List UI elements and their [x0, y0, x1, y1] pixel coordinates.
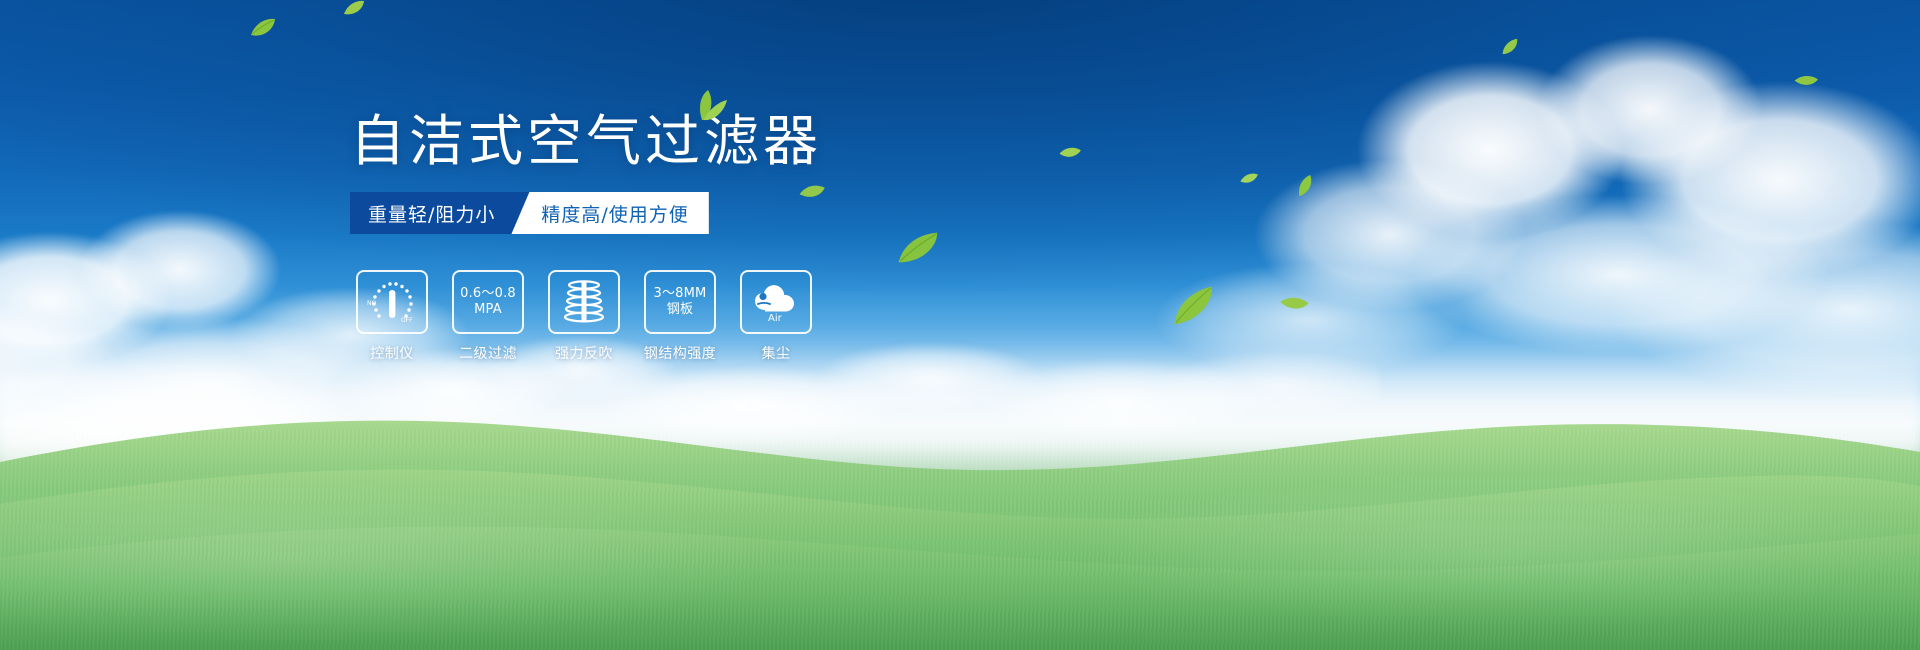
feature-tag-group: 重量轻/阻力小 精度高/使用方便: [350, 192, 709, 234]
title-leaf-icon: [680, 88, 728, 122]
page-title: 自洁式空气过滤器: [350, 110, 822, 172]
feature-item-control-instrument[interactable]: NO OFF 控制仪: [356, 270, 428, 363]
pressure-text-icon: 0.6～0.8MPA: [460, 286, 516, 318]
banner-content: 自洁式空气过滤器 重量轻/阻力小 精度高/使用方便: [0, 0, 1920, 650]
tag-precision-convenience[interactable]: 精度高/使用方便: [511, 192, 708, 234]
coil-spiral-icon: [561, 278, 607, 326]
svg-text:NO: NO: [367, 300, 376, 307]
svg-text:Air: Air: [768, 313, 783, 324]
feature-icon-box: 3～8MM钢板: [644, 270, 716, 334]
feature-icon-box: Air: [740, 270, 812, 334]
air-cloud-icon: Air: [750, 280, 802, 324]
hero-banner: 自洁式空气过滤器 重量轻/阻力小 精度高/使用方便: [0, 0, 1920, 650]
svg-text:OFF: OFF: [401, 317, 413, 324]
feature-label: 控制仪: [370, 343, 414, 363]
feature-icon-box: NO OFF: [356, 270, 428, 334]
feature-item-steel-structure-strength[interactable]: 3～8MM钢板 钢结构强度: [644, 270, 716, 363]
feature-item-strong-backblow[interactable]: 强力反吹: [548, 270, 620, 363]
control-dial-icon: NO OFF: [363, 277, 421, 327]
feature-icon-box: 0.6～0.8MPA: [452, 270, 524, 334]
feature-label: 二级过滤: [459, 343, 517, 363]
feature-label: 集尘: [762, 343, 791, 363]
feature-label: 钢结构强度: [644, 343, 717, 363]
feature-icon-row: NO OFF 控制仪 0.6～0.8MPA 二级过滤: [356, 270, 812, 363]
steel-plate-text-icon: 3～8MM钢板: [654, 286, 707, 318]
feature-item-dust-collection[interactable]: Air 集尘: [740, 270, 812, 363]
tag-weight-resistance[interactable]: 重量轻/阻力小: [350, 192, 529, 234]
feature-label: 强力反吹: [555, 343, 613, 363]
feature-item-secondary-filtration[interactable]: 0.6～0.8MPA 二级过滤: [452, 270, 524, 363]
feature-icon-box: [548, 270, 620, 334]
